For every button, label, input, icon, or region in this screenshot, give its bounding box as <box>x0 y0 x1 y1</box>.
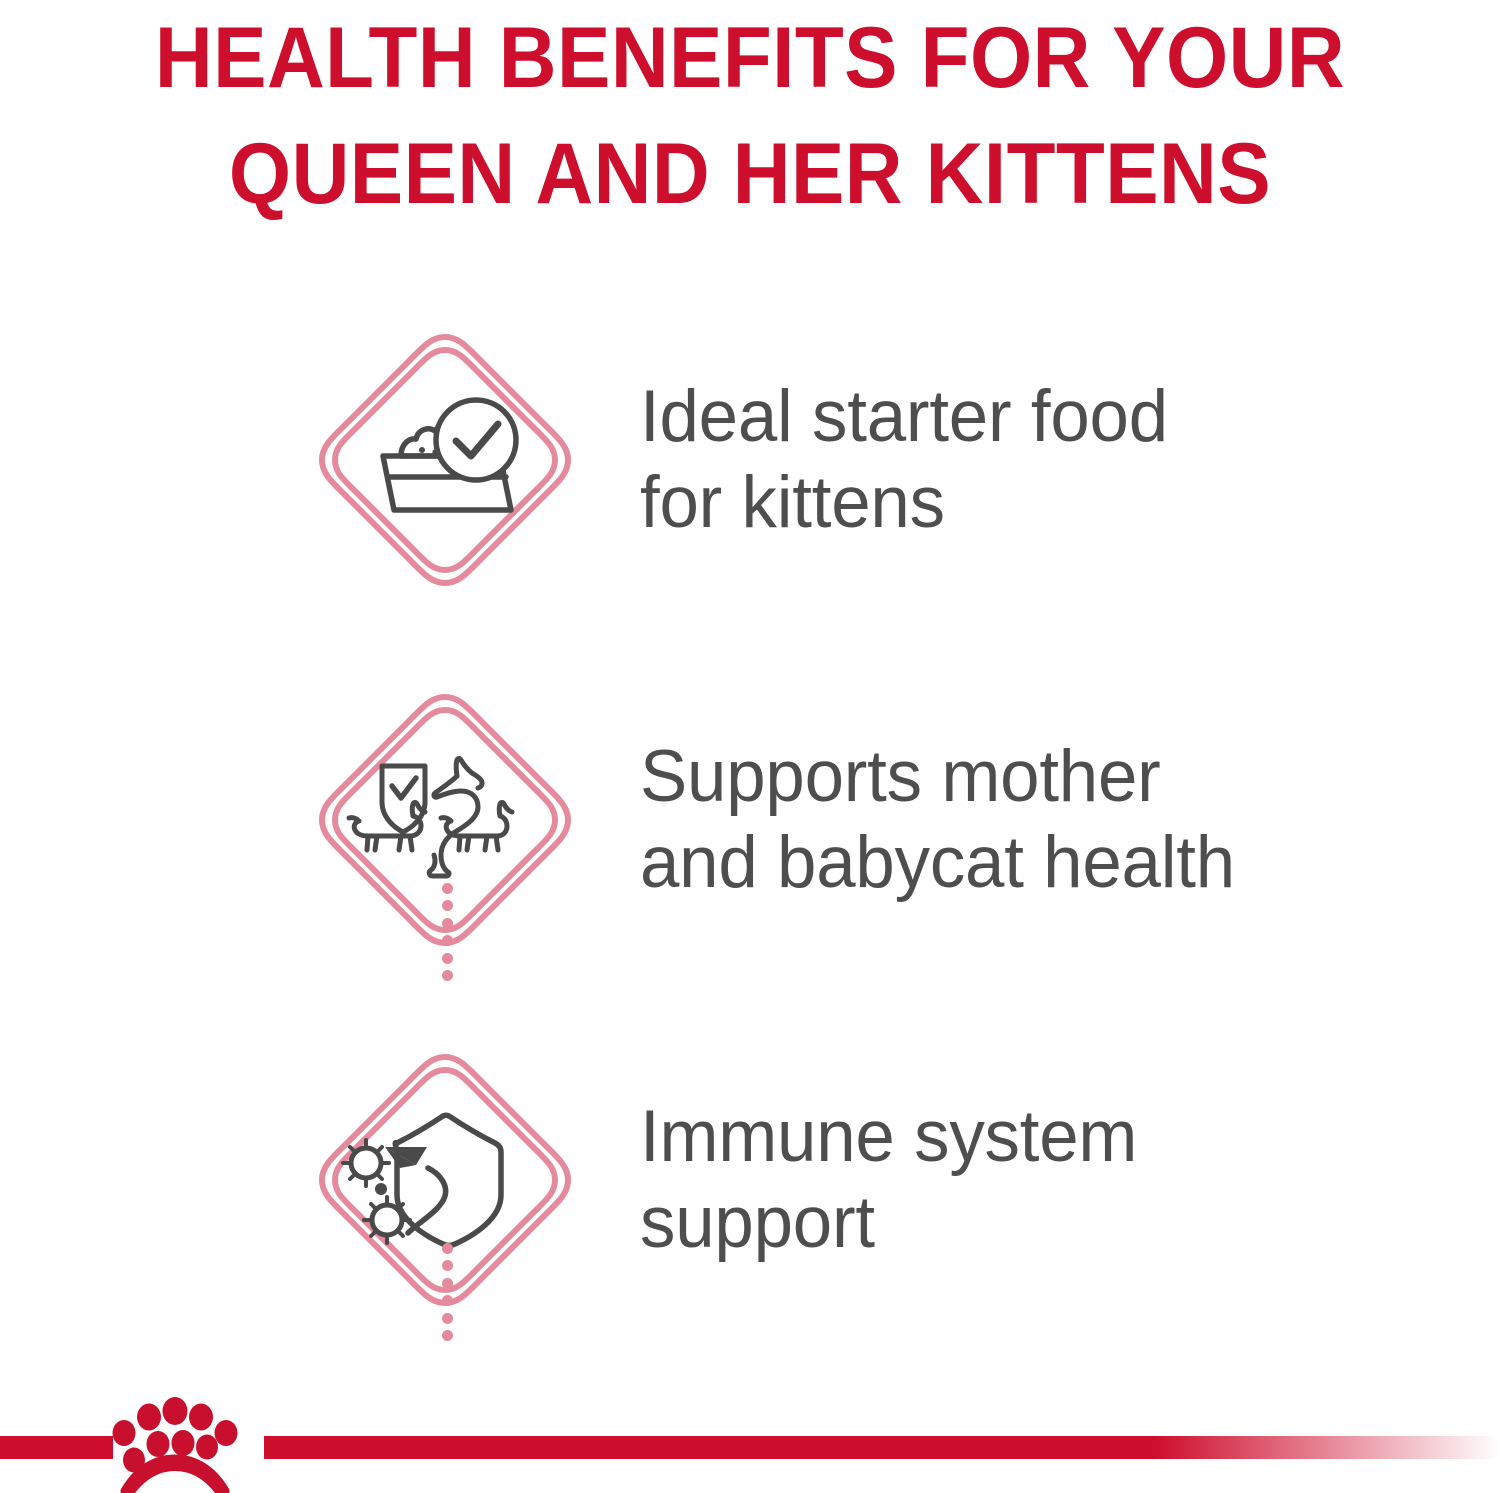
dotted-connector <box>439 883 455 981</box>
connector-dot <box>442 900 453 911</box>
connector-dot <box>442 935 453 946</box>
benefit-label: Supports mother and babycat health <box>640 734 1474 906</box>
connector-dot <box>442 1295 453 1306</box>
connector-dot <box>442 1243 453 1254</box>
benefit-item: Immune system support <box>0 1030 1500 1330</box>
benefit-label: Ideal starter food for kittens <box>640 374 1474 546</box>
benefit-item: Ideal starter food for kittens <box>0 310 1500 610</box>
connector-dot <box>442 953 453 964</box>
connector-dot <box>442 918 453 929</box>
connector-dot <box>442 1278 453 1289</box>
connector-dot <box>442 883 453 894</box>
food-bowl-check-icon <box>315 330 575 590</box>
benefit-label: Immune system support <box>640 1094 1474 1266</box>
footer-bar-right <box>264 1436 1500 1459</box>
footer <box>0 1380 1500 1493</box>
benefit-item: Supports mother and babycat health <box>0 670 1500 970</box>
royal-canin-crown-logo <box>100 1381 250 1493</box>
page-title: HEALTH BENEFITS FOR YOUR QUEEN AND HER K… <box>53 0 1448 232</box>
connector-dot <box>442 1260 453 1271</box>
dotted-connector <box>439 1243 455 1341</box>
footer-bar-left <box>0 1436 113 1459</box>
connector-dot <box>442 970 453 981</box>
connector-dot <box>442 1330 453 1341</box>
benefits-list: Ideal starter food for kittens <box>0 300 1500 1320</box>
connector-dot <box>442 1313 453 1324</box>
